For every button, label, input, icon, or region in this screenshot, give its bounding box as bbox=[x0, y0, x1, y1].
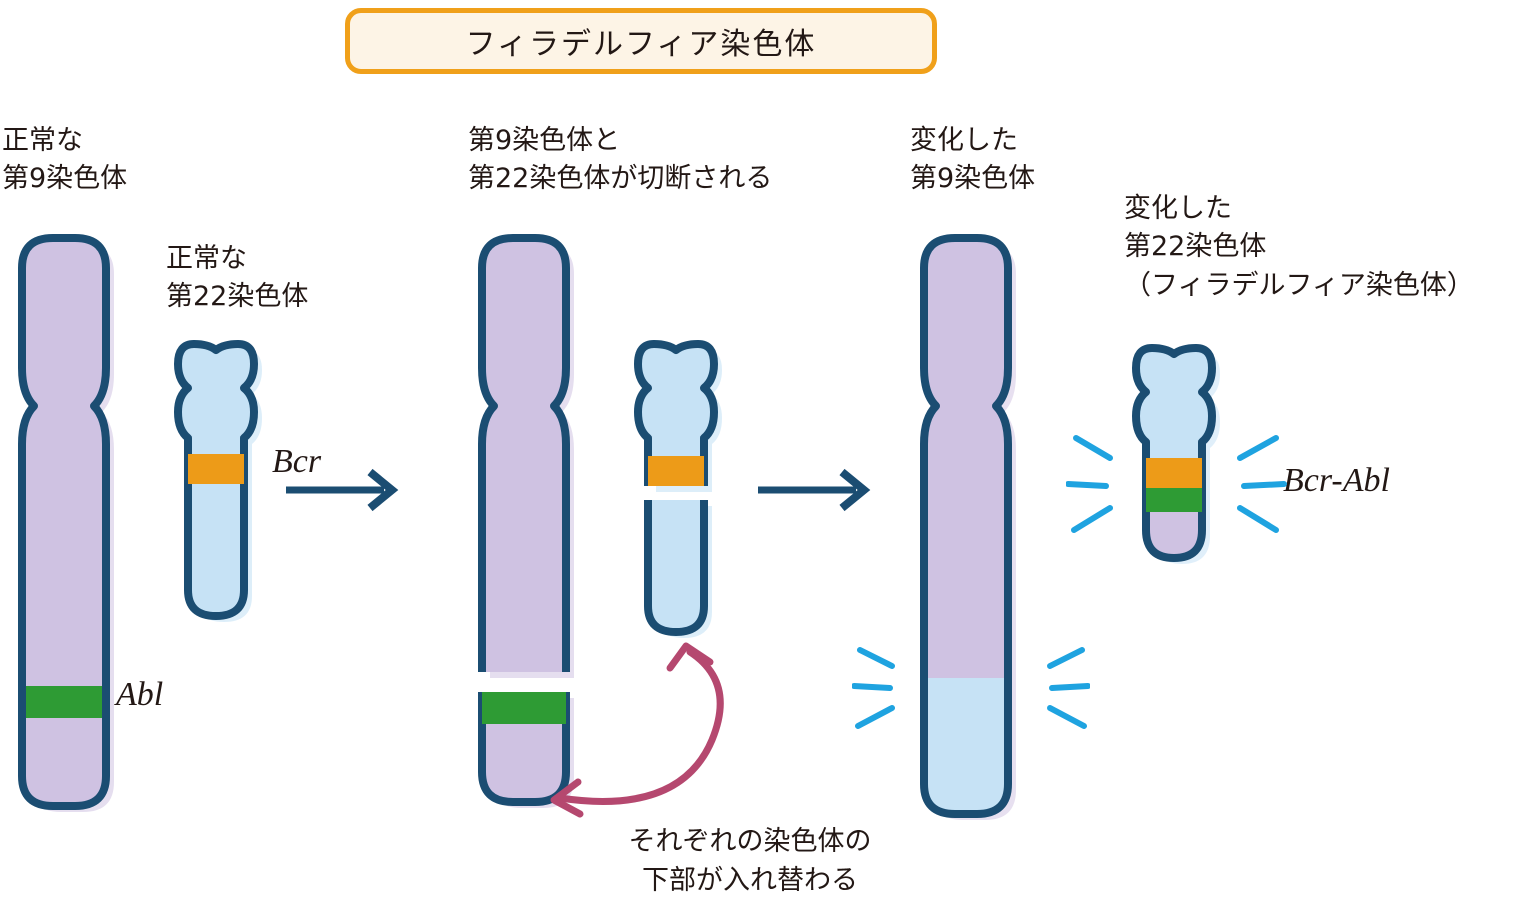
philadelphia-chromosome bbox=[1118, 340, 1238, 570]
sparkle-left-ph-icon bbox=[1066, 428, 1136, 538]
sparkle-left-der9-icon bbox=[852, 638, 916, 738]
chromosome-9-normal bbox=[6, 228, 126, 816]
chromosome-9-altered bbox=[908, 228, 1028, 828]
caption-lower-parts-swap: それぞれの染色体の 下部が入れ替わる bbox=[600, 822, 900, 900]
diagram-title-box: フィラデルフィア染色体 bbox=[345, 8, 937, 74]
label-normal-chromosome-9: 正常な 第9染色体 bbox=[2, 122, 127, 199]
chromosome-22-cut-upper bbox=[620, 336, 740, 496]
process-arrow-1 bbox=[286, 468, 406, 512]
chromosome-22-normal bbox=[160, 336, 280, 626]
chromosome-22-cut-lower bbox=[620, 498, 740, 638]
label-altered-chromosome-9: 変化した 第9染色体 bbox=[910, 122, 1035, 199]
label-altered-chromosome-22: 変化した 第22染色体 （フィラデルフィア染色体） bbox=[1124, 190, 1474, 305]
label-normal-chromosome-22: 正常な 第22染色体 bbox=[166, 240, 308, 317]
label-chromosomes-are-cut: 第9染色体と 第22染色体が切断される bbox=[468, 122, 772, 199]
sparkle-right-der9-icon bbox=[1026, 638, 1090, 738]
band-bcr-fragment bbox=[620, 456, 740, 486]
swap-arrow bbox=[530, 630, 760, 820]
page-title: フィラデルフィア染色体 bbox=[466, 19, 817, 63]
diagram-canvas: フィラデルフィア染色体 正常な 第9染色体 正常な 第22染色体 第9染色体と … bbox=[0, 0, 1536, 908]
sparkle-right-ph-icon bbox=[1226, 428, 1306, 538]
process-arrow-2 bbox=[758, 468, 878, 512]
chromosome-9-cut-upper bbox=[466, 228, 586, 678]
